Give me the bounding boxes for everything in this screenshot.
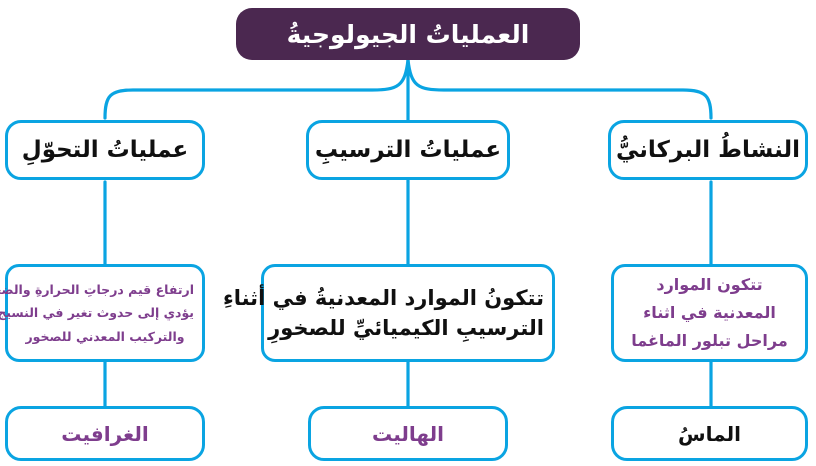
- mineral-box-halite[interactable]: الهاليت: [308, 406, 508, 461]
- process-box-volcanism[interactable]: النشاطُ البركانيُّ: [608, 120, 808, 180]
- description-line: يؤدي إلى حدوث تغير في النسيج: [16, 301, 194, 324]
- description-line: الترسيبِ الكيميائيِّ للصخورِ: [272, 313, 544, 343]
- description-line: والتركيب المعدني للصخور: [16, 325, 194, 348]
- geological-processes-diagram: العملياتُ الجيولوجيةُ عملياتُ التحوّلِ ع…: [0, 0, 816, 466]
- process-label-volcanism: النشاطُ البركانيُّ: [611, 137, 805, 163]
- diagram-title-label: العملياتُ الجيولوجيةُ: [236, 20, 580, 49]
- diagram-title-box: العملياتُ الجيولوجيةُ: [236, 8, 580, 60]
- description-text-volcanism: تتكون الموارد المعدنية في اثناء مراحل تب…: [622, 271, 797, 355]
- description-text-metamorphism: ارتفاع قيم درجاتِ الحرارةِ والضغط يؤدي إ…: [16, 278, 194, 347]
- description-box-metamorphism: ارتفاع قيم درجاتِ الحرارةِ والضغط يؤدي إ…: [5, 264, 205, 362]
- mineral-label-halite: الهاليت: [311, 422, 505, 446]
- connector-title-to-left: [105, 60, 408, 118]
- mineral-label-diamond: الماسُ: [614, 422, 805, 446]
- connector-title-to-right: [408, 60, 711, 118]
- process-box-sedimentation[interactable]: عملياتُ الترسيبِ: [306, 120, 510, 180]
- description-box-sedimentation: تتكونُ الموارد المعدنيةُ في أثناءِ الترس…: [261, 264, 555, 362]
- process-label-sedimentation: عملياتُ الترسيبِ: [309, 137, 507, 163]
- description-text-sedimentation: تتكونُ الموارد المعدنيةُ في أثناءِ الترس…: [272, 283, 544, 344]
- description-line: ارتفاع قيم درجاتِ الحرارةِ والضغط: [16, 278, 194, 301]
- description-line: مراحل تبلور الماغما: [622, 327, 797, 355]
- mineral-box-graphite[interactable]: الغرافيت: [5, 406, 205, 461]
- description-line: تتكون الموارد: [622, 271, 797, 299]
- description-line: تتكونُ الموارد المعدنيةُ في أثناءِ: [272, 283, 544, 313]
- mineral-box-diamond[interactable]: الماسُ: [611, 406, 808, 461]
- process-label-metamorphism: عملياتُ التحوّلِ: [8, 137, 202, 163]
- process-box-metamorphism[interactable]: عملياتُ التحوّلِ: [5, 120, 205, 180]
- description-line: المعدنية في اثناء: [622, 299, 797, 327]
- mineral-label-graphite: الغرافيت: [8, 422, 202, 446]
- description-box-volcanism: تتكون الموارد المعدنية في اثناء مراحل تب…: [611, 264, 808, 362]
- connector-lines: [0, 0, 816, 466]
